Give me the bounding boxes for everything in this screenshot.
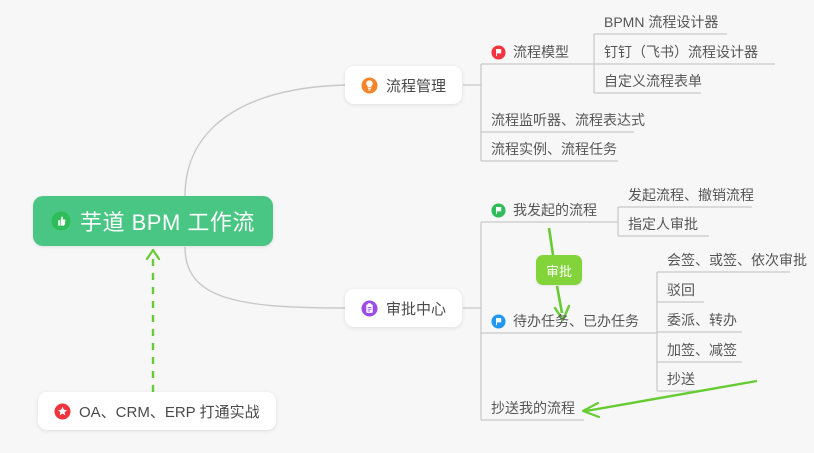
node-process-model[interactable]: 流程模型: [491, 40, 569, 64]
mindmap-canvas: 芋道 BPM 工作流 流程管理 流程模型 BPMN 流程设计器 钉钉（飞书）流程…: [0, 0, 814, 453]
node-label: 抄送我的流程: [491, 398, 575, 418]
node-countersign[interactable]: 会签、或签、依次审批: [667, 248, 807, 272]
node-bpmn-designer[interactable]: BPMN 流程设计器: [604, 10, 718, 34]
node-label: 抄送: [667, 369, 695, 389]
node-assignee-approve[interactable]: 指定人审批: [628, 212, 698, 236]
node-process-management[interactable]: 流程管理: [345, 66, 462, 104]
node-label: 发起流程、撤销流程: [628, 185, 754, 205]
approval-tag[interactable]: 审批: [536, 255, 582, 285]
node-cc-to-me[interactable]: 抄送我的流程: [491, 396, 575, 420]
root-node[interactable]: 芋道 BPM 工作流: [33, 196, 273, 246]
node-label: 流程实例、流程任务: [491, 139, 617, 159]
clipboard-icon: [361, 300, 378, 317]
node-label: 我发起的流程: [513, 200, 597, 220]
node-start-cancel[interactable]: 发起流程、撤销流程: [628, 183, 754, 207]
node-my-initiated[interactable]: 我发起的流程: [491, 198, 597, 222]
root-label: 芋道 BPM 工作流: [80, 205, 255, 237]
node-add-remove-sign[interactable]: 加签、减签: [667, 338, 737, 362]
node-listener-expression[interactable]: 流程监听器、流程表达式: [491, 108, 645, 132]
node-instance-task[interactable]: 流程实例、流程任务: [491, 137, 617, 161]
node-label: 待办任务、已办任务: [513, 311, 639, 331]
node-label: 会签、或签、依次审批: [667, 250, 807, 270]
node-label: 自定义流程表单: [604, 71, 702, 91]
node-oa-crm-erp[interactable]: OA、CRM、ERP 打通实战: [38, 392, 276, 430]
node-label: OA、CRM、ERP 打通实战: [79, 401, 260, 422]
node-label: BPMN 流程设计器: [604, 12, 718, 32]
node-approval-center[interactable]: 审批中心: [345, 289, 462, 327]
thumbs-up-icon: [51, 211, 71, 231]
node-label: 加签、减签: [667, 340, 737, 360]
node-delegate-transfer[interactable]: 委派、转办: [667, 308, 737, 332]
node-todo-done[interactable]: 待办任务、已办任务: [491, 309, 639, 333]
node-reject[interactable]: 驳回: [667, 278, 695, 302]
approval-tag-label: 审批: [546, 261, 572, 280]
node-label: 审批中心: [386, 298, 446, 319]
flag-icon: [491, 203, 506, 218]
node-label: 指定人审批: [628, 214, 698, 234]
green-dashed-arrowhead: [147, 250, 159, 259]
lightbulb-icon: [361, 77, 378, 94]
flag-icon: [491, 314, 506, 329]
connector-root-to-process-management: [185, 85, 345, 196]
green-arrowhead-cc-flow: [583, 403, 599, 417]
node-custom-process-form[interactable]: 自定义流程表单: [604, 69, 702, 93]
flag-icon: [491, 45, 506, 60]
connector-root-to-approval-center: [185, 247, 345, 308]
node-label: 钉钉（飞书）流程设计器: [604, 42, 758, 62]
star-icon: [54, 403, 71, 420]
node-label: 流程管理: [386, 75, 446, 96]
node-label: 委派、转办: [667, 310, 737, 330]
node-label: 流程监听器、流程表达式: [491, 110, 645, 130]
node-label: 流程模型: [513, 42, 569, 62]
node-dingtalk-feishu-designer[interactable]: 钉钉（飞书）流程设计器: [604, 40, 758, 64]
node-cc[interactable]: 抄送: [667, 367, 695, 391]
node-label: 驳回: [667, 280, 695, 300]
